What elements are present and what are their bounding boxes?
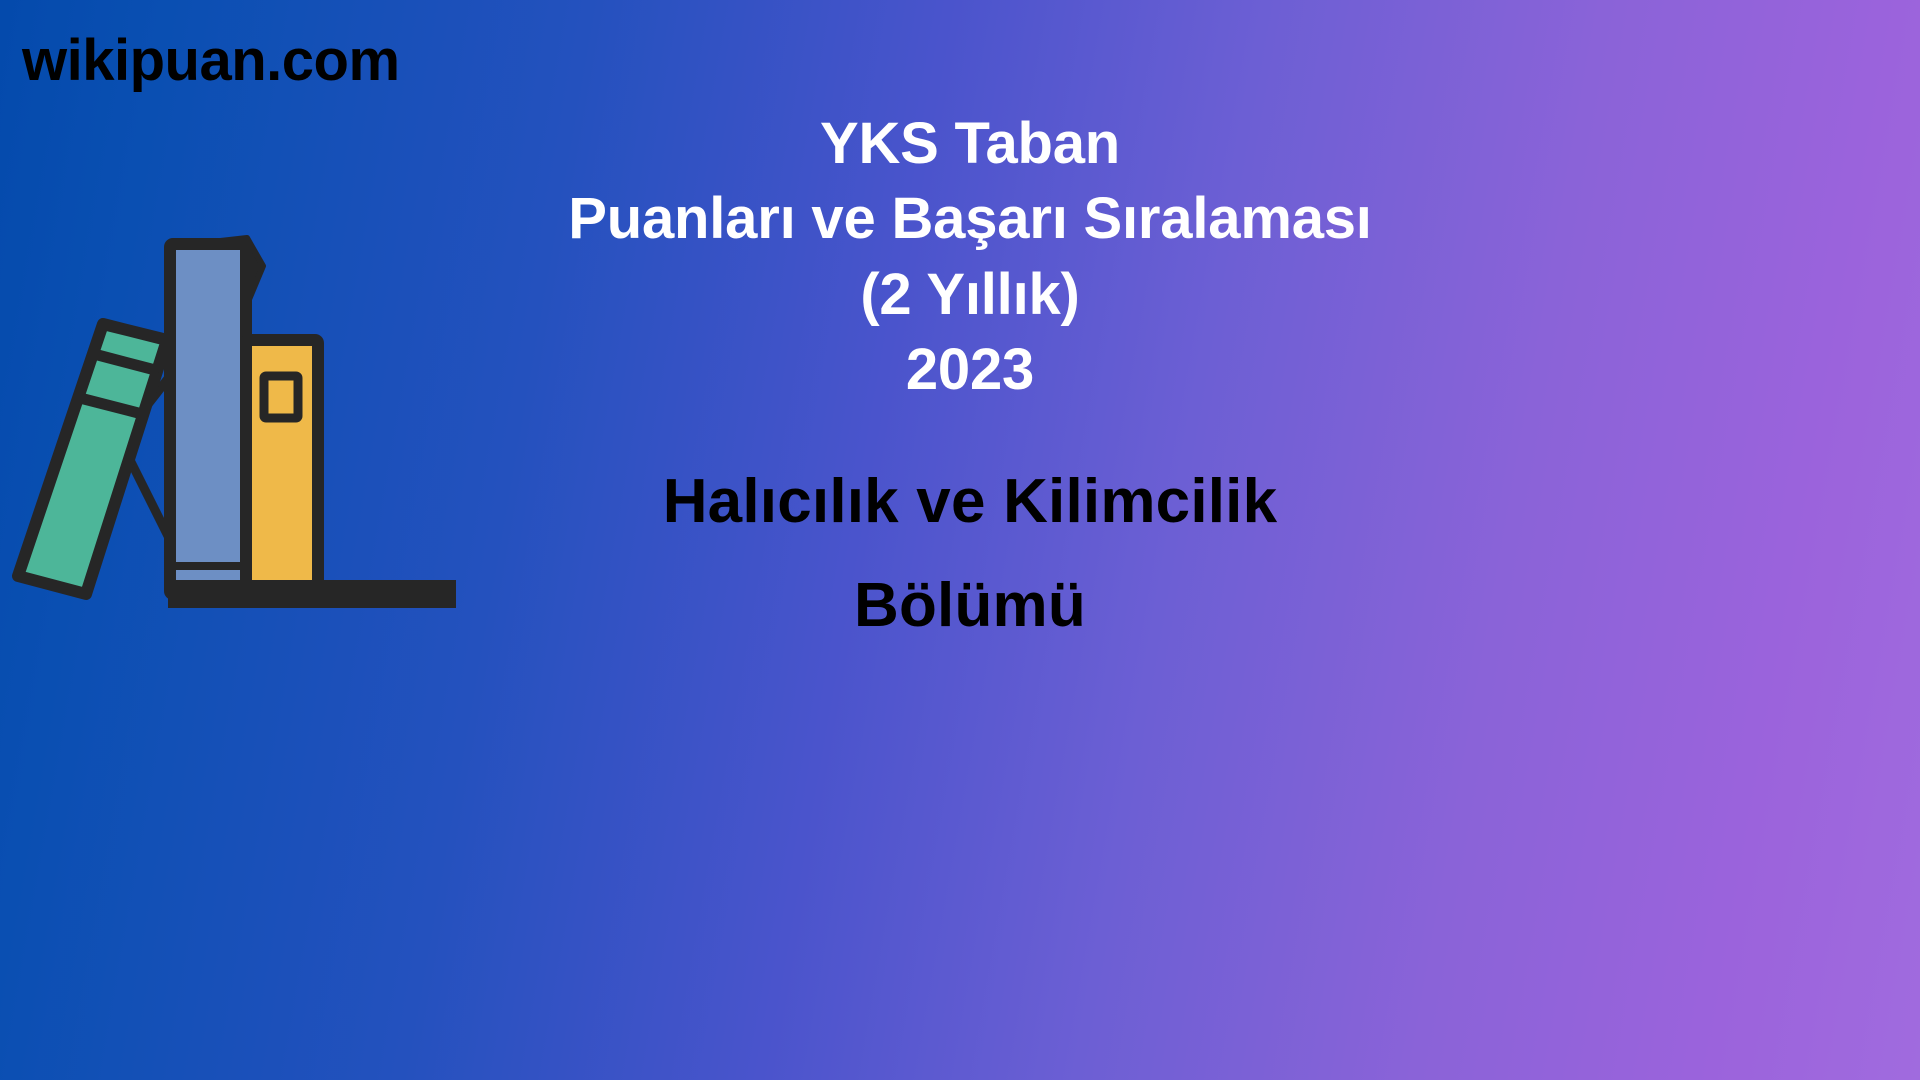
poster-canvas: wikipuan.com — [0, 0, 1920, 1080]
subtitle-line-1: Halıcılık ve Kilimcilik — [490, 450, 1450, 554]
main-title: YKS Taban Puanları ve Başarı Sıralaması … — [490, 106, 1450, 408]
title-line-3: (2 Yıllık) — [490, 257, 1450, 332]
books-and-lamp-illustration — [0, 222, 560, 622]
site-watermark: wikipuan.com — [22, 32, 400, 90]
department-subtitle: Halıcılık ve Kilimcilik Bölümü — [490, 408, 1450, 658]
shelf-base — [168, 580, 456, 608]
poster-text-column: YKS Taban Puanları ve Başarı Sıralaması … — [490, 106, 1450, 658]
title-line-4: 2023 — [490, 332, 1450, 407]
yellow-book-label — [264, 376, 298, 418]
blue-book-cover — [170, 244, 246, 594]
title-line-1: YKS Taban — [490, 106, 1450, 181]
blue-book — [170, 244, 246, 594]
subtitle-line-2: Bölümü — [490, 554, 1450, 658]
illustration-svg — [0, 222, 560, 622]
green-book — [18, 324, 167, 594]
title-line-2: Puanları ve Başarı Sıralaması — [490, 181, 1450, 256]
yellow-book — [246, 340, 318, 594]
